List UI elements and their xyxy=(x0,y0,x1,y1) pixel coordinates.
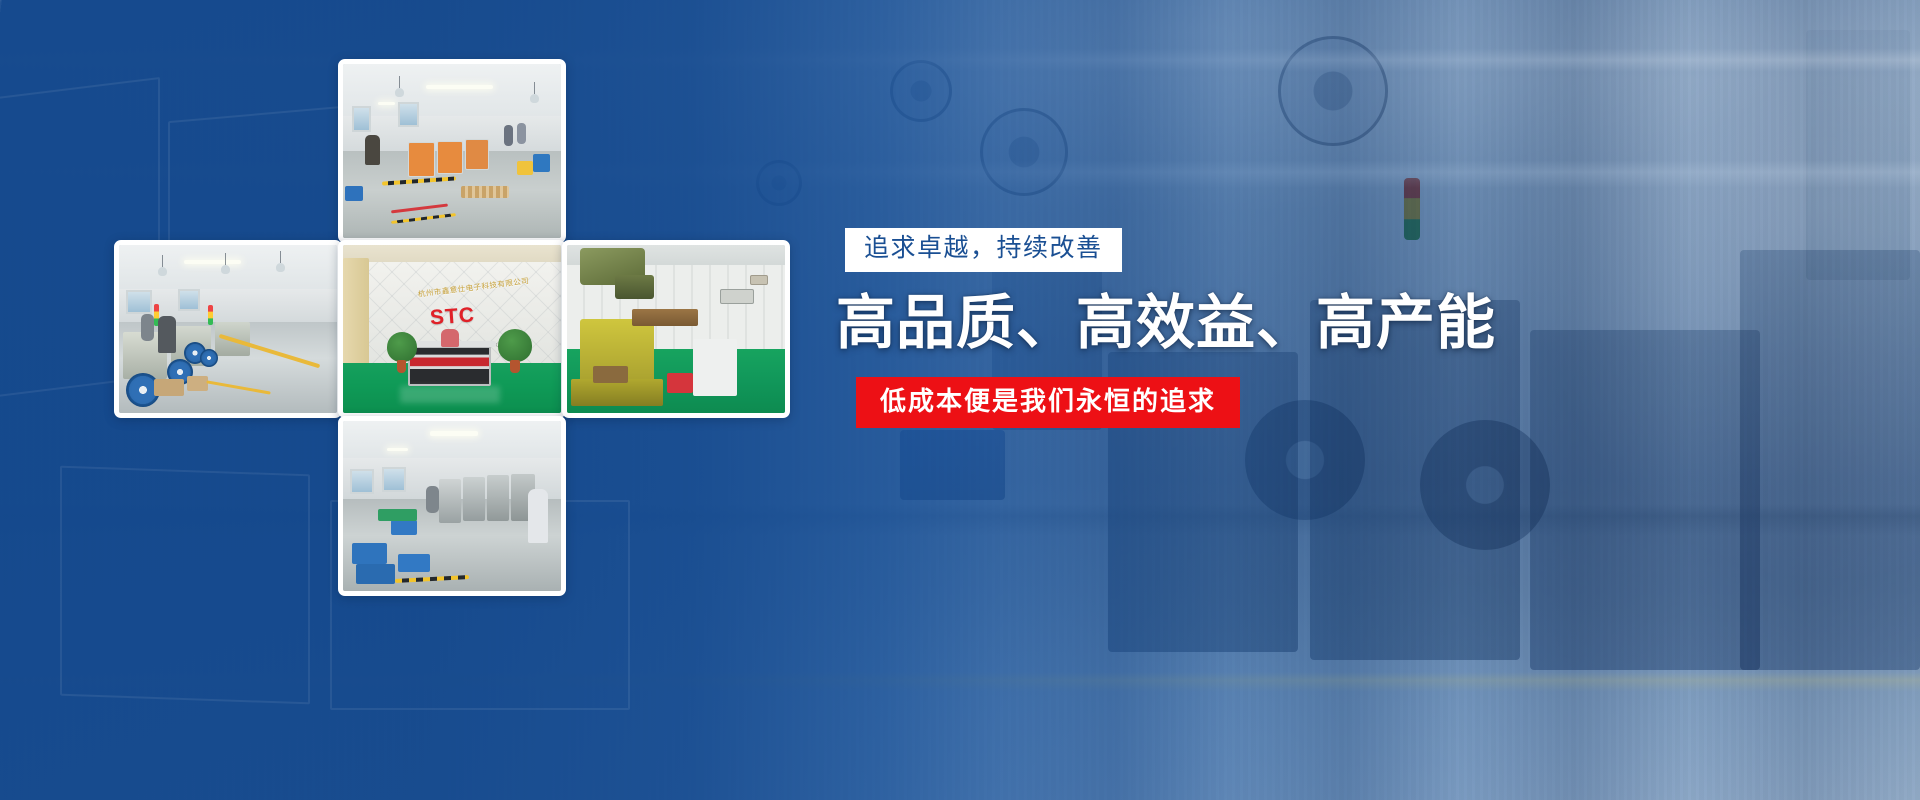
tagline-box: 追求卓越，持续改善 xyxy=(845,228,1122,272)
collage-photo-top[interactable] xyxy=(338,59,566,243)
light-tube xyxy=(430,431,478,436)
press-base xyxy=(571,379,663,406)
scene-window xyxy=(382,467,406,493)
receptionist-figure xyxy=(441,329,458,347)
press-table xyxy=(632,309,697,326)
scene-window xyxy=(352,106,372,132)
blue-crate xyxy=(352,543,387,563)
collage-photo-center[interactable]: 杭州市鑫意仕电子科技有限公司 STC CO.,LTD xyxy=(338,240,566,418)
carton xyxy=(187,376,209,391)
control-panel xyxy=(720,289,755,304)
worker-figure xyxy=(517,123,526,144)
scene-window xyxy=(126,290,152,314)
green-table xyxy=(378,509,417,521)
photo-scene xyxy=(119,245,337,413)
light-tube xyxy=(378,102,395,105)
tool-tray xyxy=(593,366,628,383)
bin xyxy=(517,161,532,175)
hero-banner: 杭州市鑫意仕电子科技有限公司 STC CO.,LTD xyxy=(0,0,1920,800)
wall-pillar xyxy=(343,258,369,369)
signal-tower-icon xyxy=(208,305,213,325)
pendant-lamp-icon xyxy=(530,94,539,103)
worker-figure xyxy=(504,125,513,146)
worker-figure xyxy=(141,314,154,341)
wall-outlet xyxy=(750,275,767,285)
hero-copy: 追求卓越，持续改善 高品质、高效益、高产能 低成本便是我们永恒的追求 xyxy=(836,228,1396,428)
reception-desk xyxy=(408,346,491,386)
collage-photo-left[interactable] xyxy=(114,240,342,418)
subline-box: 低成本便是我们永恒的追求 xyxy=(856,377,1240,428)
pallet xyxy=(461,186,509,198)
light-tube xyxy=(387,448,409,451)
worker-figure xyxy=(158,316,175,353)
machine-head xyxy=(615,275,654,299)
collage-photo-bottom[interactable] xyxy=(338,416,566,596)
photo-scene xyxy=(343,64,561,238)
machine-row xyxy=(463,477,485,521)
blue-crate xyxy=(398,554,431,573)
floor-reflection xyxy=(400,386,500,403)
worker-figure xyxy=(365,135,380,165)
photo-scene xyxy=(343,421,561,591)
light-tube xyxy=(426,85,494,89)
machine-row xyxy=(487,475,509,521)
photo-scene xyxy=(567,245,785,413)
photo-collage: 杭州市鑫意仕电子科技有限公司 STC CO.,LTD xyxy=(0,0,820,800)
potted-plant xyxy=(387,332,417,362)
scene-window xyxy=(178,289,200,311)
bin xyxy=(345,186,362,202)
potted-plant xyxy=(498,329,532,362)
scene-window xyxy=(398,102,420,126)
machine-row xyxy=(439,479,461,523)
worker-figure xyxy=(426,486,439,513)
collage-photo-right[interactable] xyxy=(562,240,790,418)
tagline-text: 追求卓越，持续改善 xyxy=(864,235,1103,263)
pendant-lamp-icon xyxy=(276,263,285,272)
stc-logo: STC xyxy=(429,304,476,331)
white-panel xyxy=(693,339,737,396)
blue-crate xyxy=(391,520,417,535)
worker-figure xyxy=(528,489,548,543)
subline-text: 低成本便是我们永恒的追求 xyxy=(880,387,1216,416)
light-tube xyxy=(184,260,241,264)
scene-window xyxy=(350,469,374,495)
headline-text: 高品质、高效益、高产能 xyxy=(836,289,1396,357)
red-bin xyxy=(667,373,693,393)
pendant-lamp-icon xyxy=(158,267,167,276)
carton xyxy=(154,379,185,396)
workstation-booth xyxy=(437,141,463,174)
workstation-booth xyxy=(465,139,489,170)
photo-scene: 杭州市鑫意仕电子科技有限公司 STC CO.,LTD xyxy=(343,245,561,413)
blue-crate xyxy=(356,564,395,584)
component-reel xyxy=(200,349,218,367)
workstation-booth xyxy=(408,142,434,177)
bin xyxy=(533,154,550,171)
